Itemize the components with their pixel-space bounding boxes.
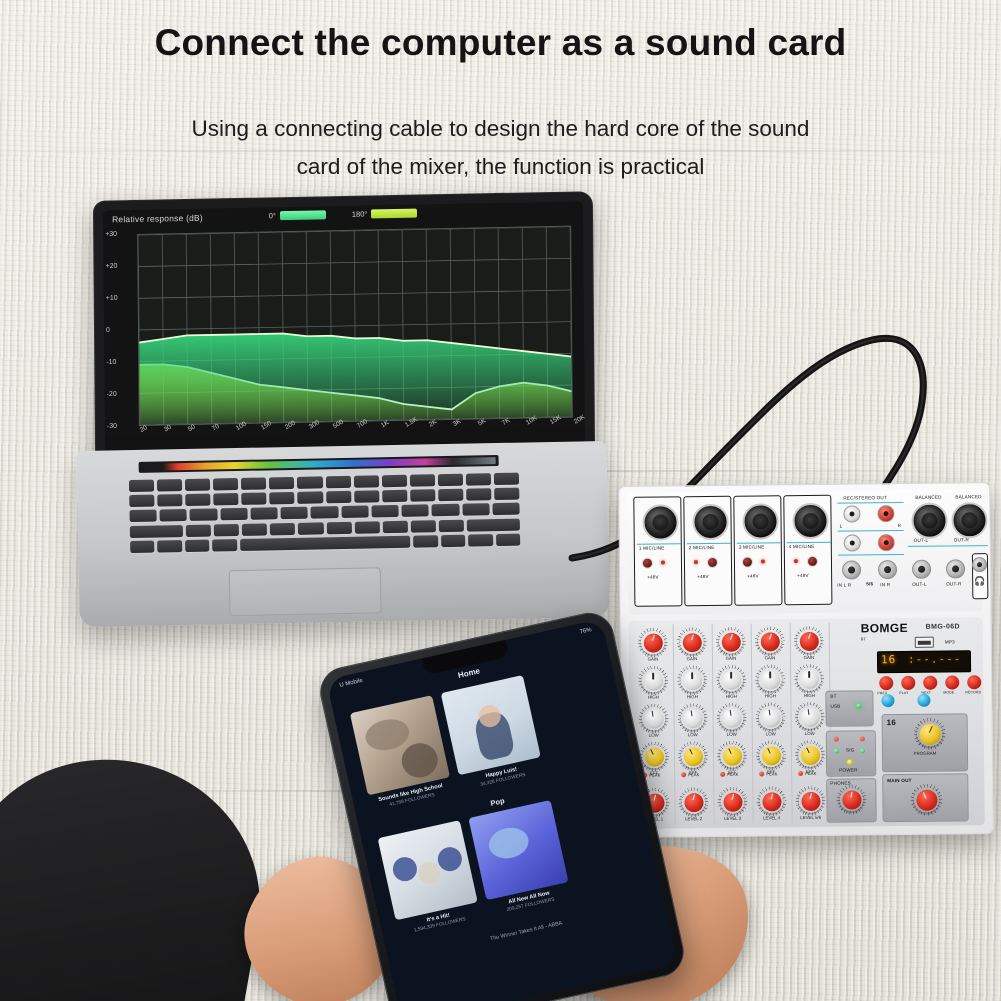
program-panel: 16 PROGRAM <box>882 713 969 772</box>
keyboard-key[interactable] <box>270 492 295 504</box>
chart-x-tick: 50 <box>187 423 197 433</box>
keyboard-key[interactable] <box>130 510 157 523</box>
main-out-knob[interactable] <box>913 787 939 813</box>
audio-mixer: 1 MIC/LINE +48V 2 MIC/LINE +48V 3 MI <box>620 484 992 836</box>
chart-y-tick: +30 <box>105 231 117 238</box>
keyboard-key[interactable] <box>298 522 323 534</box>
laptop: Relative response (dB) 0° 180° [Hz] <box>78 196 608 656</box>
gain-label-ch4: GAIN <box>750 655 790 660</box>
legend-swatch-0deg <box>280 210 326 220</box>
level-knob-ch4[interactable] <box>759 789 783 813</box>
list-item[interactable]: Happy Luis! 34,328 FOLLOWERS <box>441 675 545 791</box>
phantom-led-2 <box>694 560 698 564</box>
keyboard-key[interactable] <box>250 508 277 521</box>
list-item[interactable]: All New All Now 209,257 FOLLOWERS <box>468 800 572 916</box>
level-label-ch2: LEVEL 2 <box>674 816 714 821</box>
keyboard-key[interactable] <box>462 504 489 517</box>
keyboard-key[interactable] <box>432 504 459 517</box>
mixer-control-surface: GAIN HIGH LOW EFF <box>629 617 985 829</box>
low-knob-ch4[interactable] <box>758 705 782 729</box>
subtitle-line-1: Using a connecting cable to design the h… <box>121 110 881 148</box>
balanced-label-right: BALANCED <box>955 494 981 499</box>
chart-y-tick: -20 <box>107 391 117 398</box>
page-title: Connect the computer as a sound card <box>0 22 1001 64</box>
level-label-ch4: LEVEL 4 <box>752 815 792 820</box>
touch-bar-strip[interactable] <box>142 457 496 471</box>
list-item[interactable]: Sounds like High School 41,758 FOLLOWERS <box>350 695 454 811</box>
phones-knob[interactable] <box>839 787 863 811</box>
trs-in-left[interactable] <box>842 560 861 579</box>
smartphone: U Mobile 5:48 PM 76% Home Sounds like Hi… <box>352 636 652 1001</box>
keyboard-key[interactable] <box>438 474 463 486</box>
gain-knob-ch4[interactable] <box>758 629 782 653</box>
keyboard-key[interactable] <box>411 520 436 532</box>
low-knob-ch3[interactable] <box>719 706 743 730</box>
keyboard-key[interactable] <box>130 540 155 552</box>
keyboard-key[interactable] <box>468 534 493 546</box>
keyboard-key[interactable] <box>402 505 429 518</box>
rec-out-label: REC/STEREO OUT <box>843 495 887 500</box>
source-select-panel: BT USB <box>825 690 873 727</box>
low-knob-ch5[interactable] <box>797 705 821 729</box>
trs-out-l-label: OUT-L <box>912 582 927 587</box>
keyboard-key[interactable] <box>269 477 294 489</box>
volume-up-button[interactable] <box>917 694 930 707</box>
phantom-led-3 <box>761 559 765 563</box>
program-label: PROGRAM <box>883 750 967 756</box>
high-knob-ch4[interactable] <box>758 667 782 691</box>
rca-out-right-top[interactable] <box>877 505 894 522</box>
peak-indicator-ch2: PEAK <box>681 772 699 777</box>
keyboard-key[interactable] <box>326 491 351 503</box>
legend-item-180deg: 180° <box>352 209 418 219</box>
keyboard-key[interactable] <box>354 490 379 502</box>
keyboard-key[interactable] <box>241 477 266 489</box>
transport-label-play: PLAY <box>899 691 908 695</box>
keyboard-key[interactable] <box>185 479 210 491</box>
chart-x-tick: 30 <box>163 424 173 434</box>
mixer-body: 1 MIC/LINE +48V 2 MIC/LINE +48V 3 MI <box>618 482 994 838</box>
trs-in-right-label: IN R <box>880 582 890 587</box>
keyboard-key[interactable] <box>382 475 407 487</box>
chart-x-tick: 2K <box>428 418 438 428</box>
level-label-ch5: LEVEL 5/6 <box>791 815 831 820</box>
eff-knob-ch3[interactable] <box>720 744 744 768</box>
phones-panel-label: PHONES <box>830 781 851 786</box>
legend-label-180deg: 180° <box>352 210 368 219</box>
keyboard-key[interactable] <box>494 488 519 500</box>
bt-spec-label: BT <box>861 637 866 641</box>
high-label-ch5: HIGH <box>789 693 829 698</box>
chart-y-tick: +20 <box>105 263 117 270</box>
transport-button-mode[interactable] <box>945 675 959 689</box>
transport-button-prev[interactable] <box>879 676 893 690</box>
keyboard-key[interactable] <box>466 488 491 500</box>
trs-out-right[interactable] <box>946 559 965 578</box>
phantom-led-1 <box>661 560 665 564</box>
legend-label-0deg: 0° <box>269 211 276 220</box>
keyboard-key[interactable] <box>298 492 323 504</box>
trs-in-left-label: IN L R <box>837 583 851 588</box>
level-knob-ch5[interactable] <box>798 789 822 813</box>
keyboard-key[interactable] <box>129 495 154 507</box>
power-label: POWER <box>839 767 857 772</box>
xlr-jack-2[interactable] <box>692 504 728 540</box>
keyboard[interactable] <box>129 473 521 568</box>
low-label-ch5: LOW <box>790 731 830 736</box>
phantom-switch-1[interactable] <box>642 558 653 569</box>
input-cell-1: 1 MIC/LINE +48V <box>633 496 682 606</box>
keyboard-key[interactable] <box>383 520 408 532</box>
input-cell-4: 4 MIC/LINE +48V <box>783 495 832 605</box>
high-label-ch4: HIGH <box>750 693 790 698</box>
meter-sig-label: SIG <box>846 747 855 752</box>
xlr-out-right[interactable] <box>951 502 987 538</box>
chart-x-tick: 20 <box>139 424 149 434</box>
keyboard-key[interactable] <box>354 475 379 487</box>
chart-svg <box>138 227 572 425</box>
trs-channel-label: 5/6 <box>866 581 873 586</box>
gain-label-ch3: GAIN <box>711 656 751 661</box>
gain-label-ch2: GAIN <box>672 656 712 661</box>
keyboard-key[interactable] <box>213 493 238 505</box>
eff-knob-ch4[interactable] <box>759 743 783 767</box>
channel-strip-2: GAIN HIGH LOW EFF <box>672 624 715 824</box>
high-knob-ch2[interactable] <box>680 668 704 692</box>
low-label-ch2: LOW <box>673 732 713 737</box>
keyboard-key[interactable] <box>341 506 368 519</box>
phantom-switch-2[interactable] <box>707 557 718 568</box>
chart-x-tick: 1K <box>380 419 390 429</box>
keyboard-key[interactable] <box>410 474 435 486</box>
rec-out-r-label: R <box>898 523 902 528</box>
program-value: 16 <box>887 718 896 727</box>
lcd-display: 16 :--.--- <box>877 650 971 673</box>
keyboard-key[interactable] <box>382 490 407 502</box>
keyboard-key[interactable] <box>413 535 438 547</box>
mixer-rear-panel: 1 MIC/LINE +48V 2 MIC/LINE +48V 3 MI <box>627 489 982 615</box>
keyboard-key[interactable] <box>494 473 519 485</box>
keyboard-key[interactable] <box>160 509 187 522</box>
divider-line <box>908 545 988 547</box>
keyboard-key[interactable] <box>297 476 322 488</box>
phantom-label-1: +48V <box>647 575 659 580</box>
phones-cell: 🎧 <box>972 553 988 599</box>
mp3-label: MP3 <box>945 639 955 644</box>
keyboard-key[interactable] <box>467 518 520 531</box>
balanced-label-left: BALANCED <box>915 495 941 500</box>
phones-jack[interactable] <box>972 557 987 572</box>
chart-y-tick: -30 <box>107 423 117 430</box>
keyboard-key[interactable] <box>214 524 239 536</box>
trackpad[interactable] <box>229 567 382 616</box>
eff-knob-ch5[interactable] <box>798 743 822 767</box>
xlr-jack-1[interactable] <box>642 504 678 540</box>
keyboard-key[interactable] <box>240 535 411 550</box>
phantom-label-2: +48V <box>697 574 709 579</box>
product-scene: Connect the computer as a sound card Usi… <box>0 0 1001 1001</box>
keyboard-key[interactable] <box>439 519 464 531</box>
input-cell-3: 3 MIC/LINE +48V <box>733 495 782 605</box>
chart-x-tick: 5K <box>476 417 486 427</box>
rec-out-l-label: L <box>840 524 843 529</box>
chart-y-tick: +10 <box>106 295 118 302</box>
level-knob-ch2[interactable] <box>681 790 705 814</box>
keyboard-key[interactable] <box>326 521 351 533</box>
trs-out-r-label: OUT-R <box>946 581 961 586</box>
keyboard-key[interactable] <box>220 508 247 521</box>
keyboard-key[interactable] <box>130 525 183 538</box>
meter-led-peak <box>860 736 865 741</box>
transport-label-mode: MODE <box>943 690 954 694</box>
list-item[interactable]: It's a Hit! 1,594,309 FOLLOWERS <box>378 820 482 936</box>
program-knob[interactable] <box>917 721 943 747</box>
xlr-out-l-label: OUT-L <box>914 538 929 543</box>
usb-port[interactable] <box>915 637 934 648</box>
keyboard-key[interactable] <box>311 506 338 519</box>
keyboard-key[interactable] <box>371 505 398 518</box>
chart-plot-area <box>137 226 573 426</box>
transport-button-play[interactable] <box>901 676 915 690</box>
phone-screen[interactable]: U Mobile 5:48 PM 76% Home Sounds like Hi… <box>326 619 678 1001</box>
main-out-label: MAIN OUT <box>887 778 911 783</box>
transport-label-record: RECORD <box>965 690 981 694</box>
meter-led-clip <box>834 737 839 742</box>
high-knob-ch3[interactable] <box>719 668 743 692</box>
keyboard-key[interactable] <box>466 473 491 485</box>
low-label-ch3: LOW <box>712 732 752 737</box>
laptop-screen: Relative response (dB) 0° 180° [Hz] <box>103 201 585 452</box>
chart-x-tick: 3K <box>452 418 462 428</box>
xlr-jack-4[interactable] <box>792 503 828 539</box>
input-cell-2: 2 MIC/LINE +48V <box>683 496 732 606</box>
level-meter-panel: SIG POWER <box>826 730 876 777</box>
lcd-secondary: :--.--- <box>908 652 961 666</box>
input-label-3: 3 MIC/LINE <box>739 544 765 549</box>
meter-led-sig-l <box>834 749 839 754</box>
laptop-lid: Relative response (dB) 0° 180° [Hz] <box>93 191 595 465</box>
keyboard-key[interactable] <box>157 479 182 491</box>
keyboard-key[interactable] <box>410 489 435 501</box>
input-label-4: 4 MIC/LINE <box>789 544 815 549</box>
gain-knob-ch3[interactable] <box>719 630 743 654</box>
input-label-1: 1 MIC/LINE <box>639 545 665 550</box>
main-out-panel: MAIN OUT <box>882 773 968 822</box>
high-label-ch2: HIGH <box>672 694 712 699</box>
laptop-deck <box>76 441 609 627</box>
keyboard-key[interactable] <box>492 503 519 516</box>
keyboard-key[interactable] <box>438 489 463 501</box>
low-label-ch4: LOW <box>751 731 791 736</box>
divider-line <box>838 554 904 556</box>
brand-logo: BOMGE <box>861 621 908 635</box>
peak-indicator-ch5: PEAK <box>798 771 816 776</box>
status-carrier: U Mobile <box>339 678 363 689</box>
chart-y-tick: -10 <box>106 359 116 366</box>
model-label: BMG-06D <box>926 623 960 630</box>
phantom-label-4: +48V <box>797 573 809 578</box>
rca-out-left-top[interactable] <box>843 505 860 522</box>
xlr-out-r-label: OUT-R <box>954 537 969 542</box>
keyboard-key[interactable] <box>212 539 237 551</box>
album-art <box>350 695 450 795</box>
transport-button-record[interactable] <box>967 675 981 689</box>
input-label-2: 2 MIC/LINE <box>689 545 715 550</box>
xlr-jack-3[interactable] <box>742 503 778 539</box>
chart-y-tick: 0 <box>106 327 110 334</box>
divider-line <box>838 530 904 532</box>
frequency-response-chart: Relative response (dB) 0° 180° [Hz] <box>103 201 585 452</box>
eff-knob-ch2[interactable] <box>681 744 705 768</box>
high-label-ch3: HIGH <box>711 694 751 699</box>
lcd-value: 16 <box>881 653 896 666</box>
keyboard-key[interactable] <box>185 539 210 551</box>
level-label-ch3: LEVEL 3 <box>713 816 753 821</box>
trs-in-right[interactable] <box>878 560 897 579</box>
transport-buttons: PREVPLAYNEXTMODERECORD <box>629 617 983 621</box>
channel-strips: GAIN HIGH LOW EFF <box>629 617 983 621</box>
keyboard-key[interactable] <box>157 494 182 506</box>
headphone-icon: 🎧 <box>974 576 985 587</box>
transport-button-next[interactable] <box>923 676 937 690</box>
keyboard-key[interactable] <box>186 524 211 536</box>
meter-led-sig-r <box>860 748 865 753</box>
low-knob-ch2[interactable] <box>680 706 704 730</box>
keyboard-key[interactable] <box>185 494 210 506</box>
legend-item-0deg: 0° <box>269 210 326 220</box>
keyboard-key[interactable] <box>242 523 267 535</box>
keyboard-key[interactable] <box>270 522 295 534</box>
chart-x-tick: 70 <box>211 423 221 433</box>
bt-option-label: BT <box>830 694 836 699</box>
phone-body: U Mobile 5:48 PM 76% Home Sounds like Hi… <box>315 608 688 1001</box>
power-led <box>847 760 852 765</box>
rca-in-right[interactable] <box>878 534 895 551</box>
phantom-led-4 <box>794 559 798 563</box>
high-knob-ch5[interactable] <box>797 667 821 691</box>
gain-label-ch5: GAIN <box>789 655 829 660</box>
usb-option-label: USB <box>830 704 840 709</box>
keyboard-key[interactable] <box>281 507 308 520</box>
chart-x-tick: 7K <box>500 417 510 427</box>
keyboard-key[interactable] <box>354 521 379 533</box>
album-art <box>468 800 568 900</box>
legend-swatch-180deg <box>371 209 417 219</box>
keyboard-key[interactable] <box>441 534 466 546</box>
gain-knob-ch5[interactable] <box>797 629 821 653</box>
peak-indicator-ch4: PEAK <box>759 771 777 776</box>
phones-panel: PHONES <box>826 778 876 823</box>
keyboard-key[interactable] <box>129 480 154 492</box>
keyboard-key[interactable] <box>496 533 521 545</box>
divider-line <box>837 502 903 504</box>
trs-out-left[interactable] <box>912 560 931 579</box>
channel-strip-4: GAIN HIGH LOW EFF <box>750 623 793 823</box>
peak-indicator-ch3: PEAK <box>720 772 738 777</box>
gain-knob-ch2[interactable] <box>680 630 704 654</box>
phantom-label-3: +48V <box>747 573 759 578</box>
phantom-switch-3[interactable] <box>742 557 753 568</box>
rca-in-left[interactable] <box>844 534 861 551</box>
keyboard-key[interactable] <box>325 476 350 488</box>
xlr-out-left[interactable] <box>911 503 947 539</box>
keyboard-key[interactable] <box>213 478 238 490</box>
touch-bar[interactable] <box>139 455 499 473</box>
subtitle-line-2: card of the mixer, the function is pract… <box>121 148 881 186</box>
channel-strip-3: GAIN HIGH LOW EFF <box>711 624 754 824</box>
source-led <box>856 703 861 708</box>
keyboard-key[interactable] <box>242 493 267 505</box>
status-battery: 76% <box>579 627 592 635</box>
album-art <box>378 820 478 920</box>
phantom-switch-4[interactable] <box>807 556 818 567</box>
level-knob-ch3[interactable] <box>720 790 744 814</box>
chart-x-tick: 20K <box>573 414 585 426</box>
album-art <box>441 675 541 775</box>
volume-down-button[interactable] <box>881 694 894 707</box>
keyboard-key[interactable] <box>190 509 217 522</box>
chart-legend: 0° 180° <box>103 205 583 223</box>
keyboard-key[interactable] <box>157 540 182 552</box>
